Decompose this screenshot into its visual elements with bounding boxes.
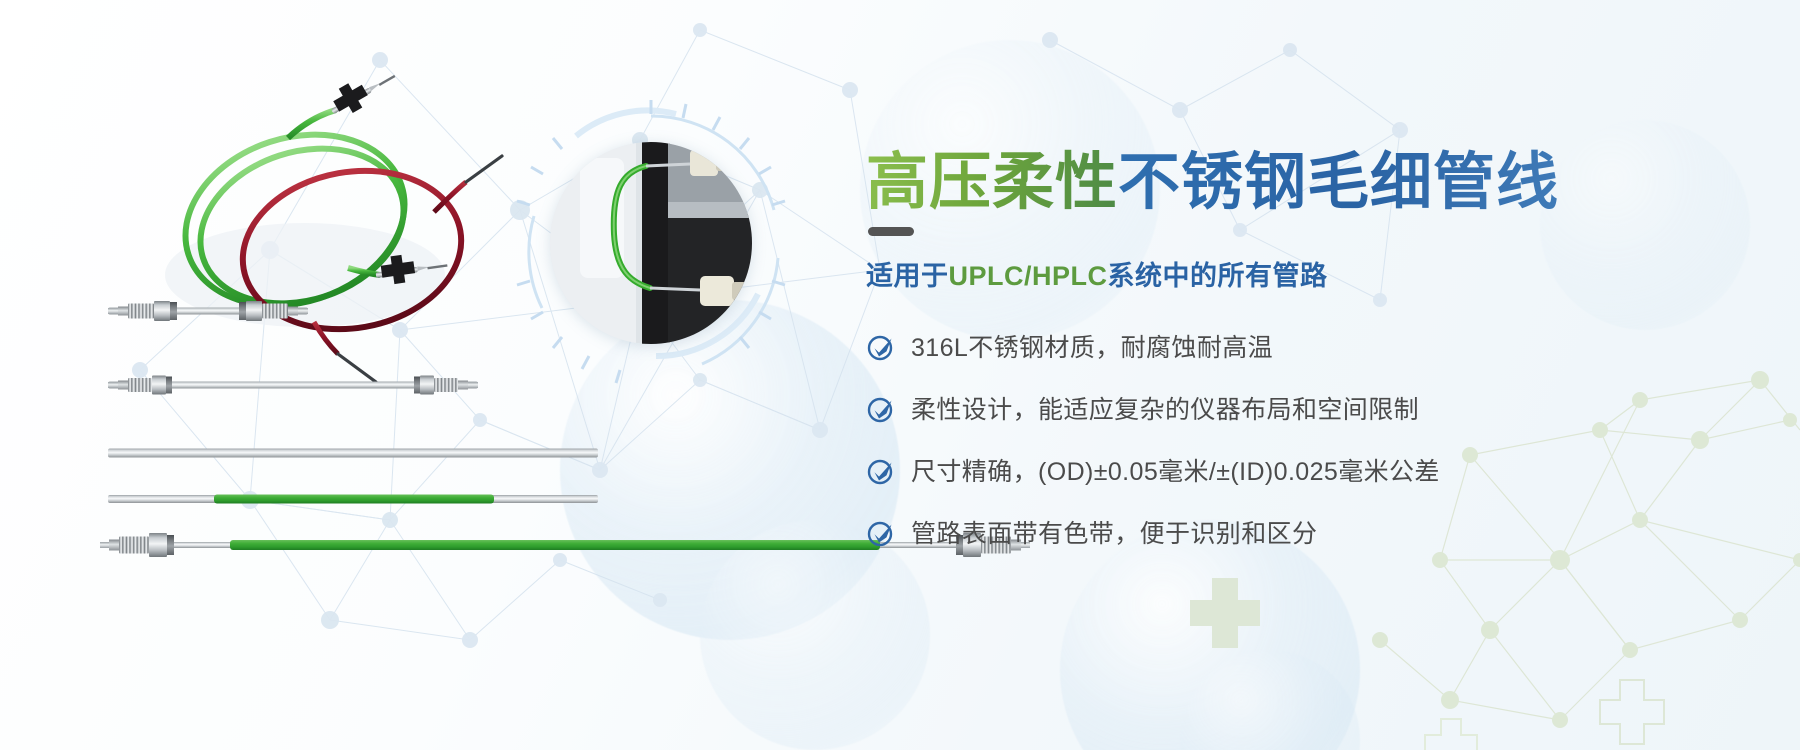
feature-text: 316L不锈钢材质，耐腐蚀耐高温 bbox=[911, 328, 1273, 364]
product-row-medium-assembly bbox=[108, 372, 478, 398]
hplc-connection-photo bbox=[550, 142, 752, 344]
plus-icon bbox=[1190, 578, 1260, 648]
product-hero-banner: 高压柔性不锈钢毛细管线 适用于UPLC/HPLC系统中的所有管路 316L不锈钢… bbox=[0, 0, 1800, 750]
check-circle-icon bbox=[866, 456, 896, 486]
list-item: 管路表面带有色带，便于识别和区分 bbox=[866, 505, 1756, 559]
coiled-capillary-tubing-image bbox=[90, 60, 550, 390]
plus-icon bbox=[1425, 719, 1477, 750]
banner-text-block: 高压柔性不锈钢毛细管线 适用于UPLC/HPLC系统中的所有管路 316L不锈钢… bbox=[866, 148, 1756, 567]
headline-blue-segment: 不锈钢毛细管线 bbox=[1118, 148, 1559, 217]
title-accent-bar bbox=[868, 227, 914, 236]
list-item: 尺寸精确，(OD)±0.05毫米/±(ID)0.025毫米公差 bbox=[866, 443, 1756, 497]
background-bubble bbox=[1180, 650, 1360, 750]
plus-icon bbox=[1600, 680, 1664, 744]
feature-text: 管路表面带有色带，便于识别和区分 bbox=[911, 514, 1317, 550]
subtitle-prefix: 适用于 bbox=[866, 261, 949, 291]
list-item: 316L不锈钢材质，耐腐蚀耐高温 bbox=[866, 319, 1756, 373]
feature-list: 316L不锈钢材质，耐腐蚀耐高温 柔性设计，能适应复杂的仪器布局和空间限制 bbox=[866, 319, 1756, 559]
product-row-short-assembly bbox=[108, 298, 308, 324]
check-circle-icon bbox=[866, 394, 896, 424]
page-subtitle: 适用于UPLC/HPLC系统中的所有管路 bbox=[866, 254, 1756, 293]
feature-text: 柔性设计，能适应复杂的仪器布局和空间限制 bbox=[911, 390, 1419, 426]
subtitle-suffix: 系统中的所有管路 bbox=[1108, 261, 1328, 291]
subtitle-highlight: UPLC/HPLC bbox=[949, 261, 1108, 291]
instrument-photo-inset bbox=[506, 98, 796, 388]
check-circle-icon bbox=[866, 332, 896, 362]
headline-green-segment: 高压柔性 bbox=[866, 148, 1118, 217]
check-circle-icon bbox=[866, 518, 896, 548]
product-row-bare-tube bbox=[108, 440, 598, 466]
list-item: 柔性设计，能适应复杂的仪器布局和空间限制 bbox=[866, 381, 1756, 435]
page-title: 高压柔性不锈钢毛细管线 bbox=[866, 148, 1756, 217]
product-imagery bbox=[0, 0, 880, 750]
product-row-green-band-tube bbox=[108, 486, 598, 512]
feature-text: 尺寸精确，(OD)±0.05毫米/±(ID)0.025毫米公差 bbox=[911, 452, 1440, 488]
